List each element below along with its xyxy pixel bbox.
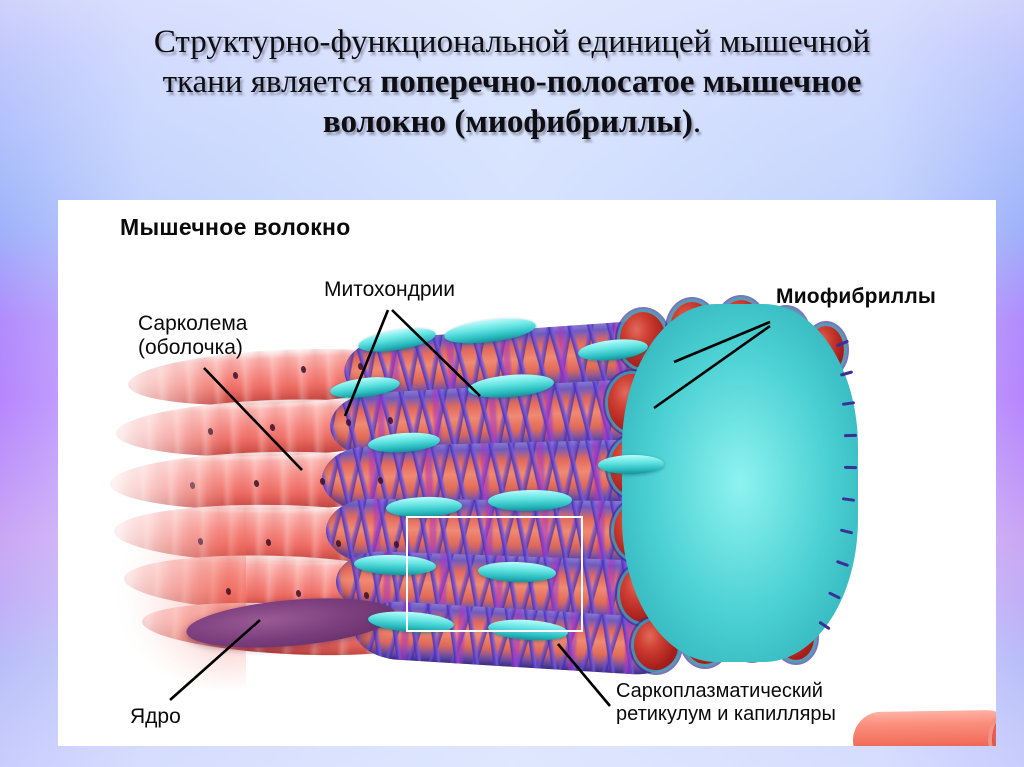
label-mitochondria: Митохондрии — [324, 278, 455, 302]
sr-spike — [844, 466, 857, 469]
label-myofibrils: Миофибриллы — [776, 285, 936, 309]
title-line-2-plain: ткани является — [163, 64, 381, 100]
title-line-3-bold: волокно (миофибриллы) — [323, 104, 693, 140]
title-line-1: Структурно-функциональной единицей мышеч… — [40, 22, 984, 62]
figure-panel: Мышечное волокно Сарколема (оболочка) Ми… — [58, 200, 996, 746]
highlight-rectangle — [406, 516, 583, 632]
fiber-cross-section — [614, 286, 864, 676]
muscle-fiber-illustration — [58, 200, 996, 746]
sr-spike — [844, 434, 857, 437]
figure-heading: Мышечное волокно — [120, 214, 351, 240]
label-sarcoplasmic-reticulum: Саркоплазматический ретикулум и капилляр… — [616, 680, 836, 726]
label-sarcolemma: Сарколема (оболочка) — [138, 312, 247, 360]
title-line-2-bold: поперечно-полосатое мышечное — [380, 64, 861, 100]
sr-web — [622, 304, 858, 662]
title-line-3: волокно (миофибриллы). — [40, 102, 984, 142]
slide-title: Структурно-функциональной единицей мышеч… — [40, 22, 984, 142]
label-nucleus: Ядро — [130, 705, 181, 729]
slide-canvas: Структурно-функциональной единицей мышеч… — [0, 0, 1024, 767]
title-line-2: ткани является поперечно-полосатое мышеч… — [40, 62, 984, 102]
title-line-3-dot: . — [693, 104, 701, 140]
detached-myofibril-tube — [853, 710, 996, 746]
